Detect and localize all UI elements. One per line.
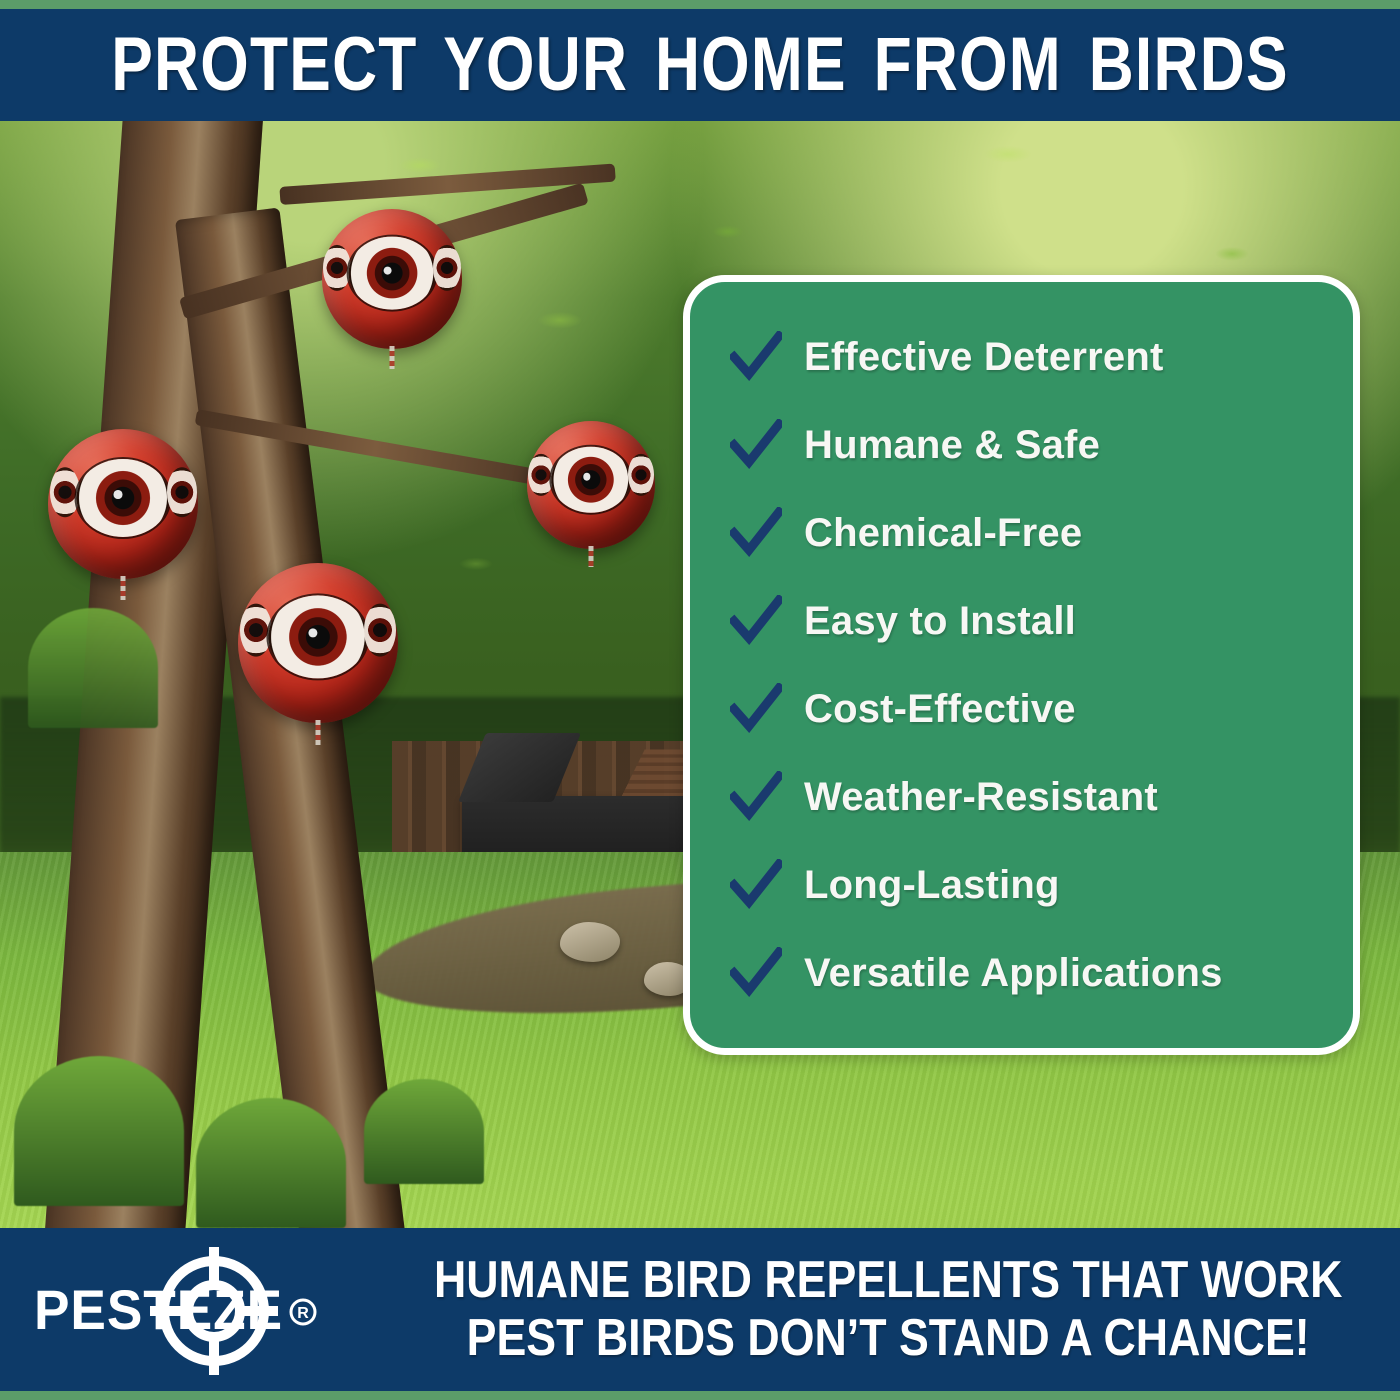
benefit-item: Weather-Resistant — [730, 753, 1319, 841]
check-icon — [730, 859, 782, 911]
eye-side-right — [167, 467, 197, 517]
benefit-label: Cost-Effective — [804, 689, 1076, 729]
scare-eye-balloon — [48, 429, 198, 579]
page-title: PROTECT YOUR HOME FROM BIRDS — [111, 27, 1289, 103]
footer-tagline: HUMANE BIRD REPELLENTS THAT WORK PEST BI… — [360, 1254, 1400, 1364]
eye-side-left — [323, 245, 351, 291]
svg-text:R: R — [297, 1305, 309, 1322]
brand-logo: PESTEZE R — [0, 1245, 360, 1375]
check-icon — [730, 419, 782, 471]
benefit-label: Chemical-Free — [804, 513, 1082, 553]
balloon-tassel — [121, 576, 126, 600]
benefit-item: Easy to Install — [730, 577, 1319, 665]
check-icon — [730, 507, 782, 559]
benefit-item: Effective Deterrent — [730, 313, 1319, 401]
benefit-label: Weather-Resistant — [804, 777, 1158, 817]
scare-eye-balloon — [527, 421, 655, 549]
garden-rock — [560, 922, 620, 962]
balloon-tassel — [589, 546, 594, 566]
eye-center — [268, 595, 367, 678]
eye-side-left — [240, 604, 272, 657]
benefit-label: Easy to Install — [804, 601, 1076, 641]
check-icon — [730, 771, 782, 823]
benefit-item: Chemical-Free — [730, 489, 1319, 577]
ornamental-grass — [364, 1079, 484, 1184]
balloon-tassel — [316, 720, 321, 746]
check-icon — [730, 683, 782, 735]
eye-side-right — [433, 245, 461, 291]
footer-bar: PESTEZE R HUMANE BIRD REPELLENTS THAT WO… — [0, 1228, 1400, 1391]
benefit-label: Versatile Applications — [804, 953, 1223, 993]
check-icon — [730, 331, 782, 383]
balloon-tassel — [390, 346, 395, 368]
brand-name: PESTEZE — [34, 1277, 283, 1342]
eye-center — [349, 237, 436, 310]
scare-eye-balloon — [322, 209, 462, 349]
shrub — [28, 608, 158, 728]
product-marketing-poster: PROTECT YOUR HOME FROM BIRDS — [0, 0, 1400, 1400]
tagline-line-2: PEST BIRDS DON’T STAND A CHANCE! — [467, 1312, 1310, 1365]
benefits-card: Effective Deterrent Humane & Safe Chemic… — [683, 275, 1360, 1055]
top-edge-strip — [0, 0, 1400, 9]
benefit-label: Effective Deterrent — [804, 337, 1163, 377]
bottom-edge-strip — [0, 1391, 1400, 1400]
eye-side-left — [528, 454, 554, 496]
benefit-item: Humane & Safe — [730, 401, 1319, 489]
scare-eye-balloon — [238, 563, 398, 723]
tagline-line-1: HUMANE BIRD REPELLENTS THAT WORK — [434, 1254, 1342, 1307]
benefit-label: Humane & Safe — [804, 425, 1100, 465]
registered-trademark-icon: R — [288, 1297, 318, 1327]
eye-center — [551, 447, 630, 514]
eye-side-left — [50, 467, 80, 517]
ornamental-grass — [14, 1056, 184, 1206]
check-icon — [730, 947, 782, 999]
eye-side-right — [364, 604, 396, 657]
eye-side-right — [628, 454, 654, 496]
benefit-item: Cost-Effective — [730, 665, 1319, 753]
benefit-item: Long-Lasting — [730, 841, 1319, 929]
benefit-label: Long-Lasting — [804, 865, 1060, 905]
ornamental-grass — [196, 1098, 346, 1228]
check-icon — [730, 595, 782, 647]
benefit-item: Versatile Applications — [730, 929, 1319, 1017]
eye-center — [77, 459, 170, 537]
header-bar: PROTECT YOUR HOME FROM BIRDS — [0, 9, 1400, 121]
